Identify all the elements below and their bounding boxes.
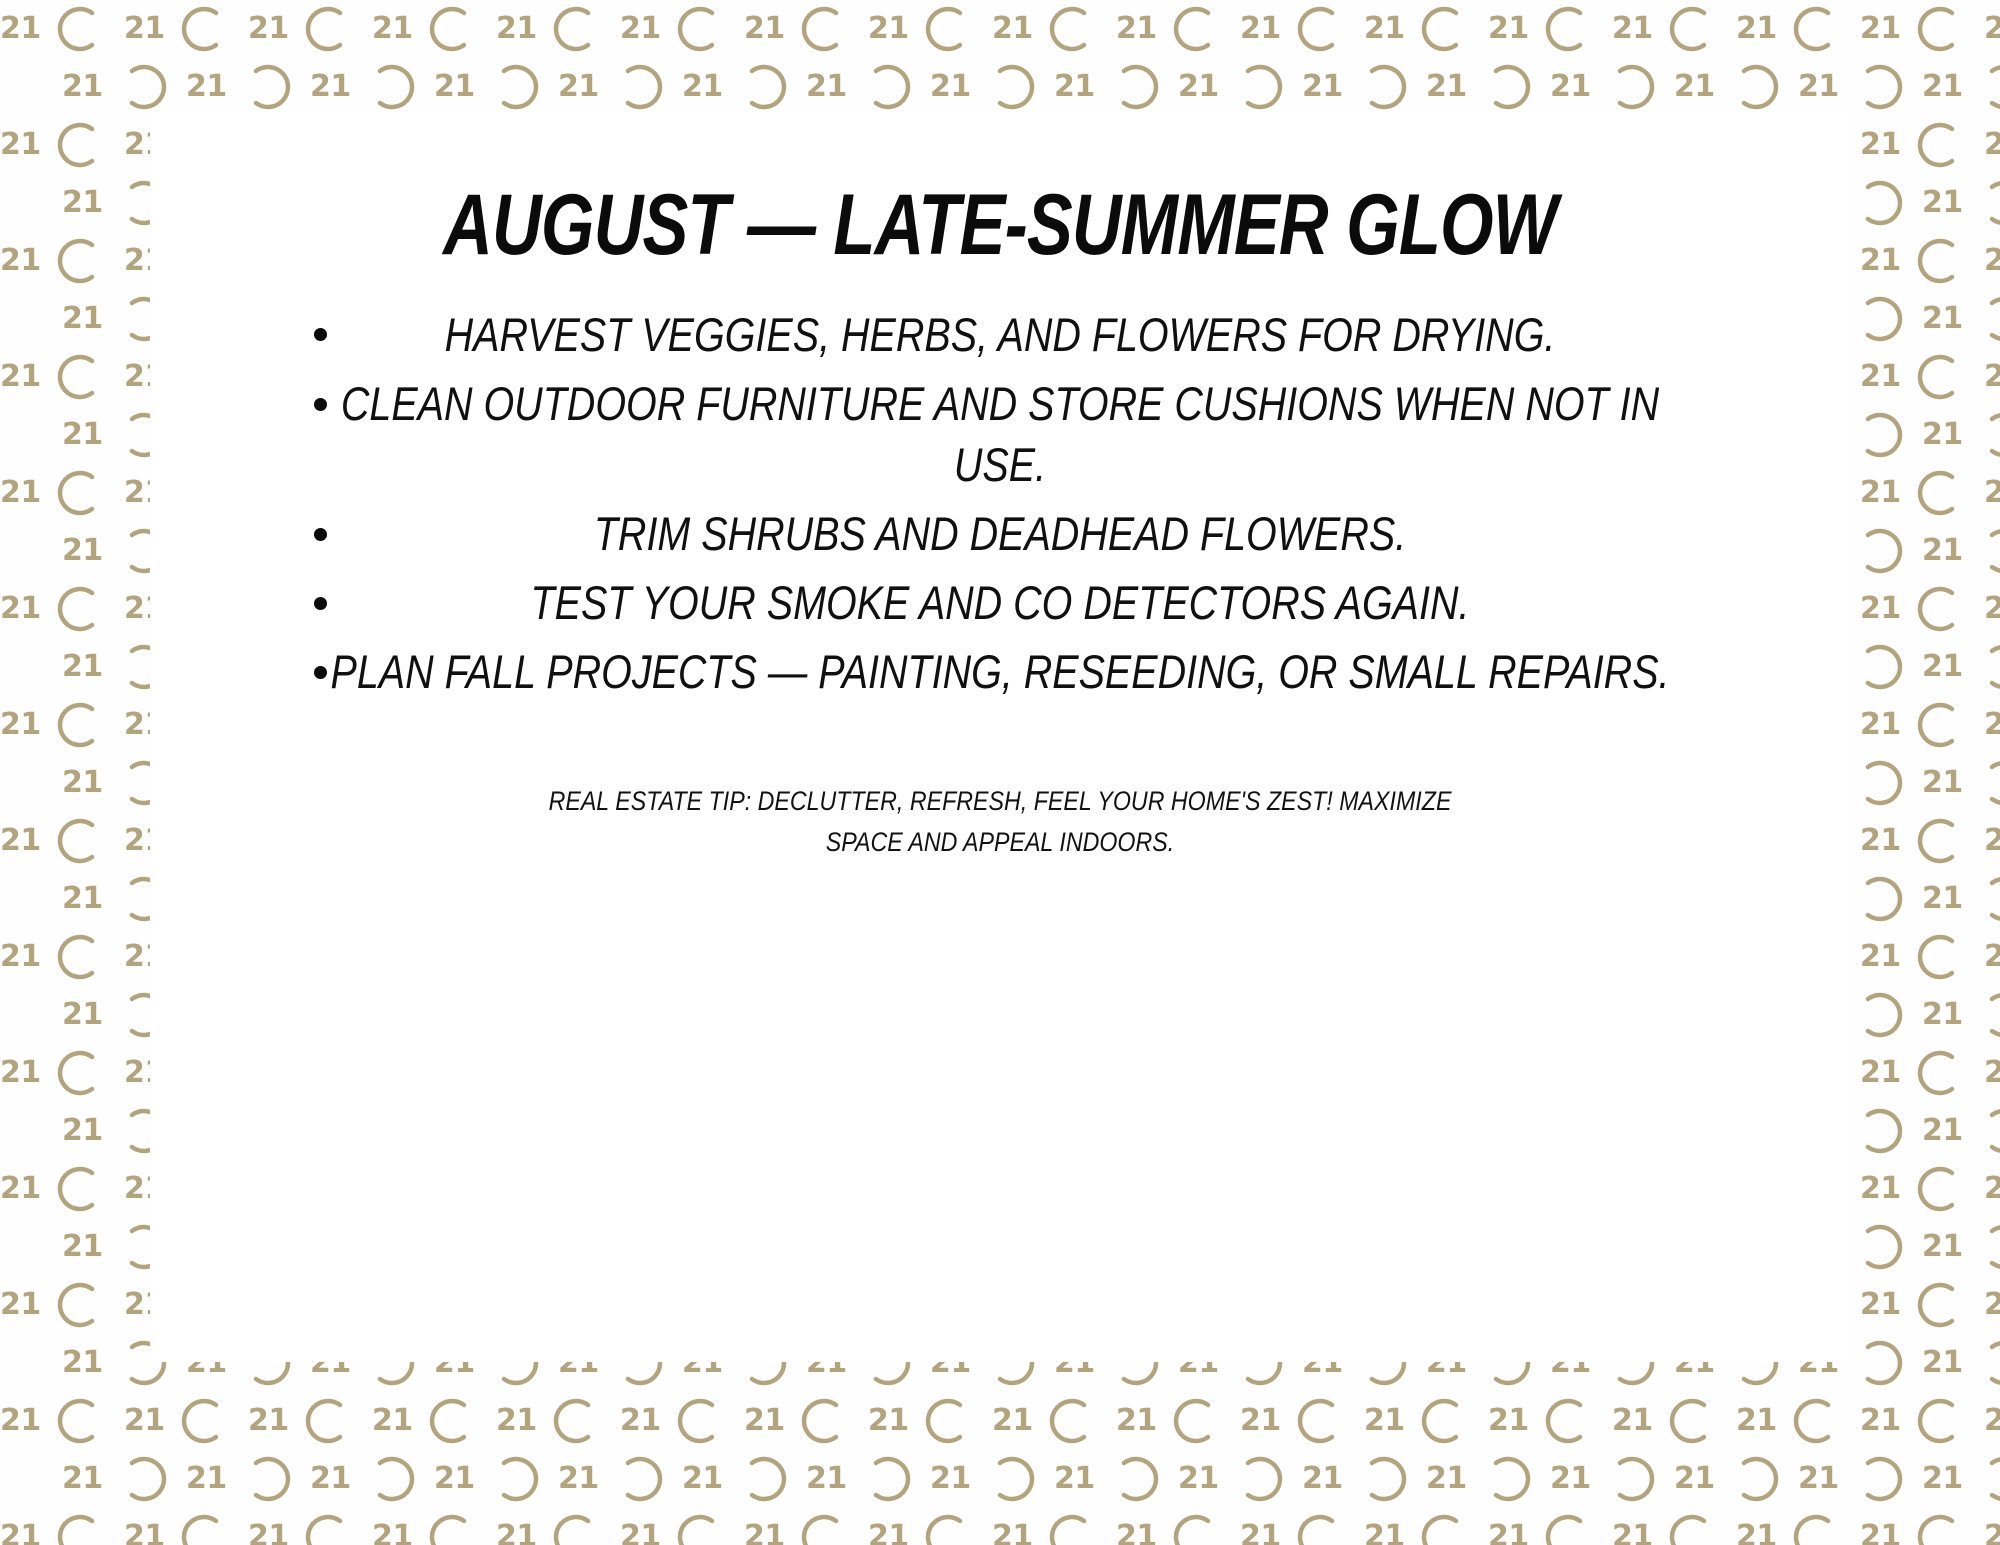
watermark-cell: 21 [0, 1276, 124, 1334]
watermark-cell: 21 [682, 1450, 806, 1508]
watermark-21-label: 21 [1860, 362, 1912, 392]
watermark-21-label: 21 [62, 652, 114, 682]
watermark-21-label: 21 [1984, 130, 2000, 160]
watermark-cell: 21 [1860, 348, 1984, 406]
watermark-21-label: 21 [992, 14, 1044, 44]
watermark-cell: 21 [1984, 1276, 2000, 1334]
century21-c-arc-icon [800, 1512, 850, 1545]
watermark-21-label: 21 [0, 478, 52, 508]
watermark-21-label: 21 [744, 1406, 796, 1436]
watermark-21-label: 21 [434, 72, 486, 102]
century21-c-arc-icon [1792, 1512, 1842, 1545]
watermark-cell: 21 [1178, 1450, 1302, 1508]
watermark-21-label: 21 [248, 1406, 300, 1436]
century21-c-arc-icon [1544, 4, 1594, 54]
watermark-cell: 21 [0, 348, 124, 406]
century21-c-arc-icon [1854, 294, 1904, 344]
watermark-cell: 21 [558, 1450, 682, 1508]
century21-c-arc-icon [1296, 1512, 1346, 1545]
century21-c-arc-icon [1296, 1396, 1346, 1446]
century21-c-arc-icon [1978, 526, 2000, 576]
watermark-cell: 21 [1984, 812, 2000, 870]
century21-c-arc-icon [56, 236, 106, 286]
watermark-cell: 21 [1922, 290, 2000, 348]
watermark-cell: 21 [0, 232, 124, 290]
watermark-21-label: 21 [1984, 1522, 2000, 1545]
century21-c-arc-icon [1916, 1048, 1966, 1098]
watermark-21-label: 21 [0, 1522, 52, 1545]
watermark-21-label: 21 [682, 1464, 734, 1494]
watermark-21-label: 21 [434, 1464, 486, 1494]
watermark-cell: 21 [1488, 0, 1612, 58]
watermark-cell: 21 [248, 1392, 372, 1450]
watermark-cell: 21 [868, 1392, 992, 1450]
watermark-cell: 21 [992, 0, 1116, 58]
watermark-cell: 21 [1116, 1508, 1240, 1545]
watermark-cell: 21 [744, 0, 868, 58]
watermark-21-label: 21 [310, 1464, 362, 1494]
century21-c-arc-icon [862, 62, 912, 112]
watermark-cell: 21 [124, 0, 248, 58]
century21-c-arc-icon [552, 1396, 602, 1446]
watermark-21-label: 21 [372, 1522, 424, 1545]
watermark-21-label: 21 [1426, 1464, 1478, 1494]
tip-line-1: REAL ESTATE TIP: DECLUTTER, REFRESH, FEE… [381, 781, 1619, 823]
watermark-cell: 21 [1612, 0, 1736, 58]
watermark-21-label: 21 [1922, 304, 1974, 334]
watermark-cell: 21 [1302, 58, 1426, 116]
watermark-cell: 21 [0, 928, 124, 986]
watermark-cell: 21 [0, 0, 124, 58]
century21-c-arc-icon [56, 1396, 106, 1446]
watermark-cell: 21 [1178, 58, 1302, 116]
watermark-cell: 21 [1736, 1392, 1860, 1450]
watermark-cell: 21 [496, 1508, 620, 1545]
watermark-21-label: 21 [1054, 72, 1106, 102]
century21-c-arc-icon [1916, 352, 1966, 402]
watermark-21-label: 21 [496, 1406, 548, 1436]
century21-c-arc-icon [1606, 62, 1656, 112]
task-list-item: HARVEST VEGGIES, HERBS, AND FLOWERS FOR … [300, 304, 1700, 365]
task-text: TEST YOUR SMOKE AND CO DETECTORS AGAIN. [306, 572, 1694, 633]
century21-c-arc-icon [1854, 1338, 1904, 1388]
watermark-cell: 21 [1922, 1218, 2000, 1276]
century21-c-arc-icon [1854, 62, 1904, 112]
watermark-cell: 21 [1984, 232, 2000, 290]
watermark-21-label: 21 [1364, 1522, 1416, 1545]
century21-c-arc-icon [1048, 4, 1098, 54]
watermark-21-label: 21 [1860, 1174, 1912, 1204]
task-text: CLEAN OUTDOOR FURNITURE AND STORE CUSHIO… [306, 373, 1694, 495]
watermark-cell: 21 [1922, 754, 2000, 812]
watermark-cell: 21 [1922, 870, 2000, 928]
watermark-cell: 21 [186, 58, 310, 116]
century21-c-arc-icon [1916, 468, 1966, 518]
watermark-21-label: 21 [124, 14, 176, 44]
watermark-21-label: 21 [1488, 1406, 1540, 1436]
watermark-21-label: 21 [806, 72, 858, 102]
century21-c-arc-icon [1668, 1396, 1718, 1446]
watermark-cell: 21 [1550, 1450, 1674, 1508]
watermark-cell: 21 [1426, 58, 1550, 116]
watermark-21-label: 21 [1178, 72, 1230, 102]
century21-c-arc-icon [1978, 642, 2000, 692]
watermark-cell: 21 [1054, 58, 1178, 116]
checklist-card: AUGUST — LATE-SUMMER GLOW HARVEST VEGGIE… [160, 120, 1840, 1355]
watermark-21-label: 21 [0, 710, 52, 740]
watermark-21-label: 21 [1302, 72, 1354, 102]
watermark-row: 21212121212121212121212121212121212121 [0, 1508, 2000, 1545]
watermark-cell: 21 [1364, 1392, 1488, 1450]
watermark-cell: 21 [1612, 1392, 1736, 1450]
watermark-21-label: 21 [1922, 884, 1974, 914]
watermark-21-label: 21 [992, 1522, 1044, 1545]
watermark-21-label: 21 [1364, 14, 1416, 44]
watermark-cell: 21 [1240, 0, 1364, 58]
century21-c-arc-icon [1916, 1280, 1966, 1330]
watermark-21-label: 21 [0, 246, 52, 276]
century21-c-arc-icon [1358, 62, 1408, 112]
watermark-21-label: 21 [620, 1406, 672, 1436]
watermark-cell: 21 [1860, 812, 1984, 870]
watermark-cell: 21 [1984, 1508, 2000, 1545]
watermark-cell: 21 [1364, 0, 1488, 58]
watermark-21-label: 21 [1302, 1464, 1354, 1494]
watermark-cell: 21 [1860, 1508, 1984, 1545]
watermark-cell: 21 [1984, 348, 2000, 406]
watermark-21-label: 21 [248, 14, 300, 44]
watermark-cell: 21 [62, 58, 186, 116]
watermark-cell: 21 [1922, 638, 2000, 696]
watermark-21-label: 21 [62, 1116, 114, 1146]
century21-c-arc-icon [1916, 1164, 1966, 1214]
century21-c-arc-icon [490, 1454, 540, 1504]
watermark-21-label: 21 [1240, 1406, 1292, 1436]
watermark-cell: 21 [434, 1450, 558, 1508]
watermark-21-label: 21 [1116, 1522, 1168, 1545]
watermark-21-label: 21 [62, 1232, 114, 1262]
century21-c-arc-icon [56, 1048, 106, 1098]
watermark-21-label: 21 [1860, 14, 1912, 44]
watermark-cell: 21 [1860, 696, 1984, 754]
century21-c-arc-icon [1420, 1396, 1470, 1446]
century21-c-arc-icon [1544, 1396, 1594, 1446]
watermark-cell: 21 [1984, 0, 2000, 58]
watermark-21-label: 21 [62, 188, 114, 218]
century21-c-arc-icon [428, 4, 478, 54]
century21-c-arc-icon [56, 1512, 106, 1545]
century21-c-arc-icon [1854, 1106, 1904, 1156]
poster-canvas: 2121212121212121212121212121212121212121… [0, 0, 2000, 1545]
watermark-cell: 21 [868, 0, 992, 58]
watermark-21-label: 21 [0, 826, 52, 856]
century21-c-arc-icon [1048, 1396, 1098, 1446]
watermark-cell: 21 [1550, 58, 1674, 116]
century21-c-arc-icon [56, 468, 106, 518]
watermark-cell: 21 [372, 1508, 496, 1545]
century21-c-arc-icon [118, 1454, 168, 1504]
watermark-cell: 21 [868, 1508, 992, 1545]
watermark-21-label: 21 [1984, 710, 2000, 740]
watermark-21-label: 21 [0, 942, 52, 972]
watermark-cell: 21 [434, 58, 558, 116]
century21-c-arc-icon [552, 1512, 602, 1545]
century21-c-arc-icon [1668, 1512, 1718, 1545]
watermark-cell: 21 [1860, 928, 1984, 986]
watermark-cell: 21 [1364, 1508, 1488, 1545]
century21-c-arc-icon [614, 62, 664, 112]
century21-c-arc-icon [1978, 1106, 2000, 1156]
watermark-21-label: 21 [868, 1406, 920, 1436]
watermark-21-label: 21 [1674, 1464, 1726, 1494]
century21-c-arc-icon [56, 584, 106, 634]
watermark-21-label: 21 [1798, 72, 1850, 102]
watermark-21-label: 21 [1736, 1522, 1788, 1545]
century21-c-arc-icon [1978, 758, 2000, 808]
century21-c-arc-icon [800, 1396, 850, 1446]
watermark-cell: 21 [1984, 928, 2000, 986]
century21-c-arc-icon [1854, 758, 1904, 808]
watermark-cell: 21 [0, 812, 124, 870]
watermark-cell: 21 [620, 1392, 744, 1450]
watermark-21-label: 21 [806, 1464, 858, 1494]
page-title: AUGUST — LATE-SUMMER GLOW [424, 182, 1576, 268]
watermark-21-label: 21 [1984, 942, 2000, 972]
watermark-21-label: 21 [1426, 72, 1478, 102]
watermark-cell: 21 [1674, 1450, 1798, 1508]
watermark-21-label: 21 [1240, 1522, 1292, 1545]
watermark-cell: 21 [0, 1160, 124, 1218]
watermark-cell: 21 [1922, 58, 2000, 116]
watermark-cell: 21 [0, 580, 124, 638]
watermark-21-label: 21 [496, 1522, 548, 1545]
watermark-cell: 21 [1612, 1508, 1736, 1545]
watermark-21-label: 21 [62, 420, 114, 450]
century21-c-arc-icon [1420, 1512, 1470, 1545]
century21-c-arc-icon [490, 62, 540, 112]
real-estate-tip: REAL ESTATE TIP: DECLUTTER, REFRESH, FEE… [280, 781, 1720, 865]
century21-c-arc-icon [1234, 62, 1284, 112]
watermark-row: 21212121212121212121212121212121212121 [0, 58, 2000, 116]
watermark-21-label: 21 [868, 14, 920, 44]
watermark-21-label: 21 [1860, 710, 1912, 740]
watermark-cell: 21 [1922, 1334, 2000, 1392]
watermark-cell: 21 [1488, 1392, 1612, 1450]
watermark-cell: 21 [1860, 1044, 1984, 1102]
watermark-cell: 21 [0, 696, 124, 754]
century21-c-arc-icon [1668, 4, 1718, 54]
watermark-cell: 21 [1984, 1044, 2000, 1102]
watermark-cell: 21 [1302, 1450, 1426, 1508]
watermark-cell: 21 [124, 1508, 248, 1545]
watermark-cell: 21 [1984, 116, 2000, 174]
watermark-21-label: 21 [1922, 1116, 1974, 1146]
watermark-21-label: 21 [1488, 1522, 1540, 1545]
century21-c-arc-icon [1854, 1222, 1904, 1272]
century21-c-arc-icon [924, 4, 974, 54]
watermark-21-label: 21 [1984, 1406, 2000, 1436]
watermark-cell: 21 [0, 1392, 124, 1450]
watermark-21-label: 21 [1984, 594, 2000, 624]
century21-c-arc-icon [1916, 932, 1966, 982]
watermark-21-label: 21 [1922, 420, 1974, 450]
watermark-21-label: 21 [682, 72, 734, 102]
watermark-21-label: 21 [0, 1406, 52, 1436]
watermark-cell: 21 [806, 58, 930, 116]
century21-c-arc-icon [1916, 4, 1966, 54]
watermark-cell: 21 [682, 58, 806, 116]
watermark-21-label: 21 [1922, 536, 1974, 566]
watermark-21-label: 21 [558, 72, 610, 102]
century21-c-arc-icon [304, 1396, 354, 1446]
watermark-21-label: 21 [62, 304, 114, 334]
watermark-21-label: 21 [1922, 188, 1974, 218]
watermark-21-label: 21 [620, 14, 672, 44]
watermark-21-label: 21 [1922, 1348, 1974, 1378]
watermark-21-label: 21 [1984, 1058, 2000, 1088]
century21-c-arc-icon [1916, 236, 1966, 286]
century21-c-arc-icon [676, 1396, 726, 1446]
watermark-cell: 21 [496, 0, 620, 58]
watermark-cell: 21 [248, 1508, 372, 1545]
watermark-21-label: 21 [930, 72, 982, 102]
watermark-21-label: 21 [1116, 1406, 1168, 1436]
century21-c-arc-icon [1978, 410, 2000, 460]
watermark-cell: 21 [0, 116, 124, 174]
century21-c-arc-icon [1978, 874, 2000, 924]
century21-c-arc-icon [1234, 1454, 1284, 1504]
century21-c-arc-icon [1854, 642, 1904, 692]
century21-c-arc-icon [1482, 62, 1532, 112]
watermark-21-label: 21 [1612, 1522, 1664, 1545]
watermark-cell: 21 [1922, 1102, 2000, 1160]
watermark-21-label: 21 [1860, 826, 1912, 856]
watermark-cell: 21 [744, 1508, 868, 1545]
watermark-cell: 21 [1922, 1450, 2000, 1508]
century21-c-arc-icon [1854, 1454, 1904, 1504]
century21-c-arc-icon [1048, 1512, 1098, 1545]
watermark-cell: 21 [1860, 1160, 1984, 1218]
watermark-21-label: 21 [1364, 1406, 1416, 1436]
watermark-cell: 21 [1116, 0, 1240, 58]
watermark-21-label: 21 [1674, 72, 1726, 102]
century21-c-arc-icon [1978, 62, 2000, 112]
watermark-cell: 21 [1860, 0, 1984, 58]
watermark-21-label: 21 [1860, 1522, 1912, 1545]
watermark-cell: 21 [1240, 1508, 1364, 1545]
watermark-cell: 21 [1860, 232, 1984, 290]
watermark-21-label: 21 [1240, 14, 1292, 44]
watermark-21-label: 21 [1984, 478, 2000, 508]
watermark-cell: 21 [1674, 58, 1798, 116]
century21-c-arc-icon [304, 1512, 354, 1545]
century21-c-arc-icon [1172, 1512, 1222, 1545]
century21-c-arc-icon [1916, 1512, 1966, 1545]
century21-c-arc-icon [1730, 62, 1780, 112]
watermark-21-label: 21 [1860, 130, 1912, 160]
watermark-cell: 21 [1116, 1392, 1240, 1450]
watermark-21-label: 21 [558, 1464, 610, 1494]
century21-c-arc-icon [1606, 1454, 1656, 1504]
watermark-21-label: 21 [930, 1464, 982, 1494]
watermark-21-label: 21 [1488, 14, 1540, 44]
century21-c-arc-icon [862, 1454, 912, 1504]
century21-c-arc-icon [366, 62, 416, 112]
watermark-cell: 21 [1860, 1276, 1984, 1334]
century21-c-arc-icon [552, 4, 602, 54]
watermark-21-label: 21 [62, 1348, 114, 1378]
watermark-cell: 21 [806, 1450, 930, 1508]
century21-c-arc-icon [1854, 178, 1904, 228]
watermark-21-label: 21 [992, 1406, 1044, 1436]
watermark-21-label: 21 [1984, 362, 2000, 392]
century21-c-arc-icon [1978, 1454, 2000, 1504]
watermark-21-label: 21 [0, 14, 52, 44]
watermark-21-label: 21 [1798, 1464, 1850, 1494]
watermark-cell: 21 [310, 1450, 434, 1508]
watermark-cell: 21 [1984, 696, 2000, 754]
watermark-21-label: 21 [62, 536, 114, 566]
watermark-cell: 21 [1736, 1508, 1860, 1545]
watermark-cell: 21 [310, 58, 434, 116]
watermark-cell: 21 [1984, 580, 2000, 638]
watermark-row: 21212121212121212121212121212121212121 [0, 1450, 2000, 1508]
century21-c-arc-icon [1916, 584, 1966, 634]
watermark-cell: 21 [0, 464, 124, 522]
century21-c-arc-icon [1110, 62, 1160, 112]
watermark-cell: 21 [372, 0, 496, 58]
task-list-item: TEST YOUR SMOKE AND CO DETECTORS AGAIN. [300, 572, 1700, 633]
tip-line-2: SPACE AND APPEAL INDOORS. [381, 822, 1619, 864]
watermark-21-label: 21 [0, 362, 52, 392]
watermark-21-label: 21 [1984, 826, 2000, 856]
watermark-cell: 21 [248, 0, 372, 58]
task-text: PLAN FALL PROJECTS — PAINTING, RESEEDING… [306, 641, 1694, 702]
century21-c-arc-icon [1978, 1222, 2000, 1272]
watermark-21-label: 21 [1984, 1174, 2000, 1204]
watermark-21-label: 21 [0, 1058, 52, 1088]
watermark-21-label: 21 [496, 14, 548, 44]
century21-c-arc-icon [1792, 1396, 1842, 1446]
watermark-cell: 21 [1240, 1392, 1364, 1450]
watermark-cell: 21 [1860, 116, 1984, 174]
watermark-cell: 21 [558, 58, 682, 116]
watermark-cell: 21 [1736, 0, 1860, 58]
watermark-21-label: 21 [1984, 246, 2000, 276]
watermark-21-label: 21 [372, 14, 424, 44]
century21-c-arc-icon [1172, 4, 1222, 54]
watermark-cell: 21 [62, 1450, 186, 1508]
watermark-21-label: 21 [744, 14, 796, 44]
watermark-cell: 21 [372, 1392, 496, 1450]
century21-c-arc-icon [56, 932, 106, 982]
century21-c-arc-icon [1978, 1338, 2000, 1388]
century21-c-arc-icon [1110, 1454, 1160, 1504]
watermark-21-label: 21 [1860, 1406, 1912, 1436]
century21-c-arc-icon [924, 1512, 974, 1545]
watermark-21-label: 21 [1860, 1058, 1912, 1088]
task-list-item: TRIM SHRUBS AND DEADHEAD FLOWERS. [300, 503, 1700, 564]
century21-c-arc-icon [614, 1454, 664, 1504]
task-text: HARVEST VEGGIES, HERBS, AND FLOWERS FOR … [306, 304, 1694, 365]
century21-c-arc-icon [242, 62, 292, 112]
watermark-21-label: 21 [1984, 1290, 2000, 1320]
watermark-cell: 21 [1922, 174, 2000, 232]
watermark-21-label: 21 [1116, 14, 1168, 44]
watermark-cell: 21 [1860, 1392, 1984, 1450]
watermark-21-label: 21 [310, 72, 362, 102]
watermark-cell: 21 [1922, 986, 2000, 1044]
